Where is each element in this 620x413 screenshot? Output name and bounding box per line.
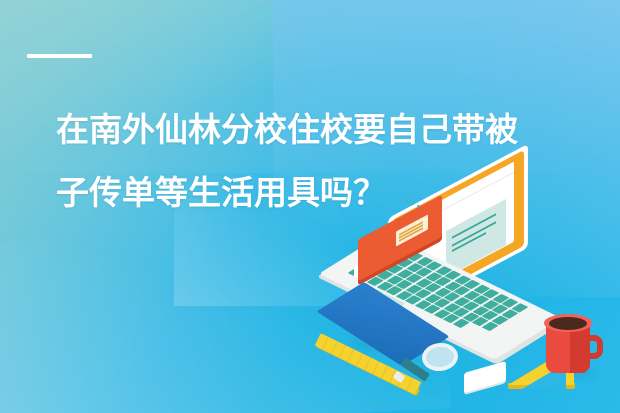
headline-line-1: 在南外仙林分校住校要自己带被 (56, 98, 426, 161)
banner-image: 在南外仙林分校住校要自己带被 子传单等生活用具吗？ (0, 0, 620, 413)
coffee-liquid (549, 317, 587, 330)
browser-dot-icon (411, 202, 414, 205)
browser-dot-icon (405, 199, 408, 202)
accent-rule (27, 54, 92, 58)
study-desk-illustration (330, 185, 620, 413)
